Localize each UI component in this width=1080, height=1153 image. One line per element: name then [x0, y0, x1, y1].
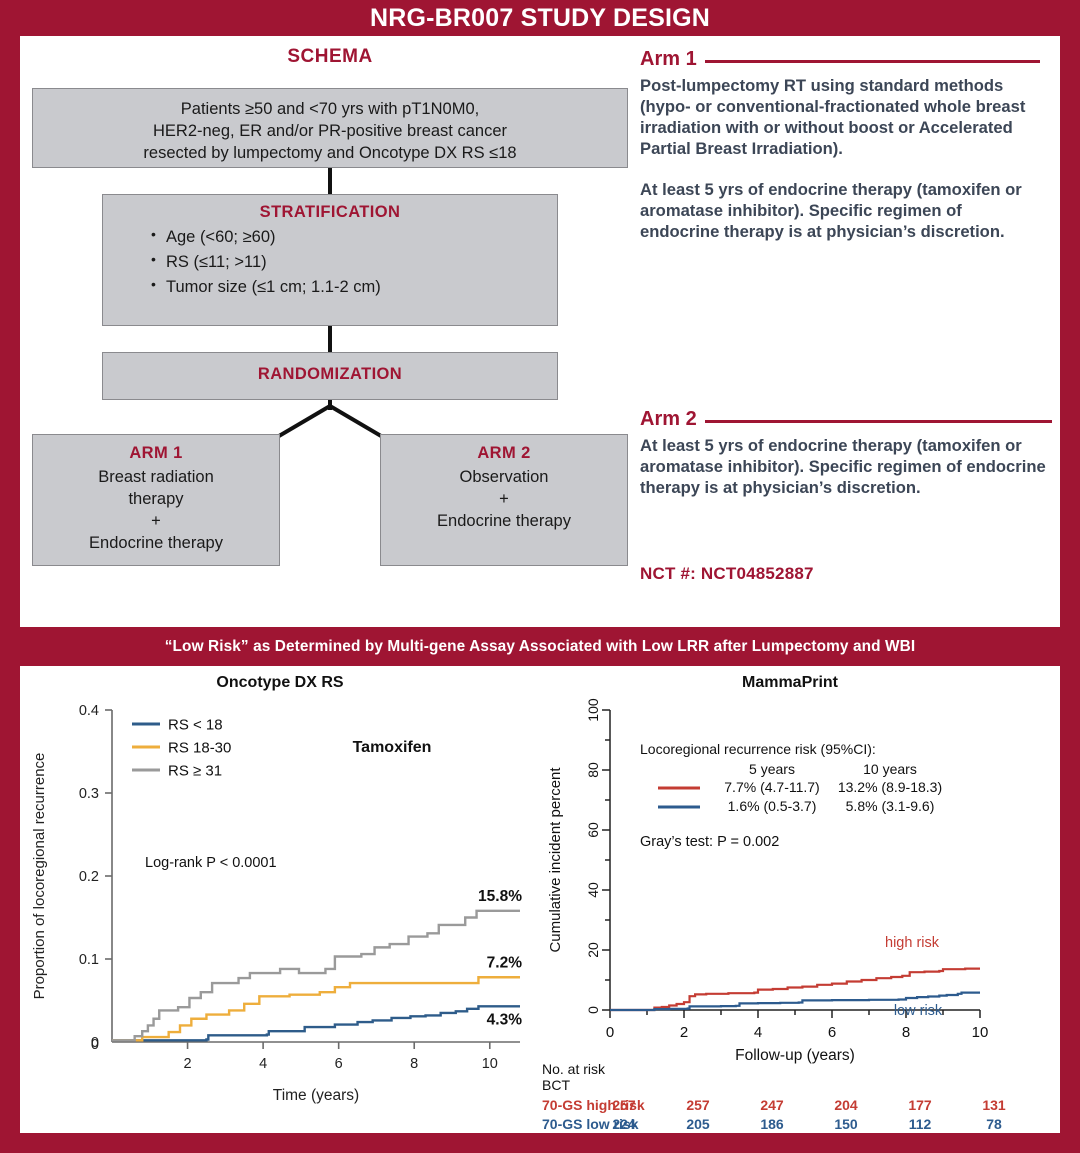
mammaprint-y-tick-label: 60	[585, 822, 601, 838]
schema-arm1-line-2: therapy	[43, 488, 269, 510]
mammaprint-risk-5y-1: 7.7% (4.7-11.7)	[724, 779, 819, 795]
oncotype-chart: 00.10.20.30.4Proportion of locoregional …	[20, 692, 540, 1132]
mammaprint-x-tick-label: 0	[606, 1024, 614, 1041]
oncotype-end-label-3: 4.3%	[487, 1011, 523, 1028]
oncotype-curve-3	[112, 911, 520, 1040]
oncotype-y-tick-label: 0.1	[79, 952, 99, 968]
arm2-paragraph-1: At least 5 yrs of endocrine therapy (tam…	[640, 436, 1052, 499]
mammaprint-risk-10y-2: 5.8% (3.1-9.6)	[846, 798, 935, 814]
oncotype-legend-label-2: RS 18-30	[168, 740, 231, 757]
arms-description-column: Arm 1 Post-lumpectomy RT using standard …	[640, 36, 1060, 627]
mammaprint-chart-title: MammaPrint	[540, 674, 1040, 692]
mammaprint-y-tick-label: 20	[585, 942, 601, 958]
oncotype-end-label-2: 7.2%	[487, 954, 523, 971]
mammaprint-risk-row-value-2-1: 224	[612, 1116, 636, 1132]
mammaprint-low-risk-annotation: low risk	[894, 1003, 943, 1019]
eligibility-line-3: resected by lumpectomy and Oncotype DX R…	[43, 142, 617, 164]
oncotype-x-axis-label: Time (years)	[273, 1087, 359, 1104]
mammaprint-y-tick-label: 100	[585, 698, 601, 722]
mammaprint-x-axis-label: Follow-up (years)	[735, 1047, 855, 1064]
page-title: NRG-BR007 STUDY DESIGN	[370, 4, 710, 33]
mammaprint-risk-row-value-1-3: 247	[760, 1097, 784, 1113]
mammaprint-risk-row-value-2-5: 112	[909, 1116, 932, 1132]
oncotype-y-axis-label: Proportion of locoregional recurrence	[31, 753, 48, 1000]
oncotype-x-tick-label: 8	[410, 1056, 418, 1072]
arm2-section: Arm 2 At least 5 yrs of endocrine therap…	[640, 408, 1052, 499]
mammaprint-risk-row-value-2-6: 78	[986, 1116, 1002, 1132]
schema-column: SCHEMA Patients ≥50 and <70 yrs with pT1…	[20, 36, 640, 627]
mammaprint-risk-row-value-2-4: 150	[834, 1116, 858, 1132]
mammaprint-no-at-risk-title: No. at risk	[542, 1061, 606, 1077]
mammaprint-grays-test: Gray’s test: P = 0.002	[640, 834, 779, 850]
connector-stratification-randomization	[328, 326, 332, 352]
oncotype-x-tick-label: 2	[184, 1056, 192, 1072]
mammaprint-y-tick-label: 40	[585, 882, 601, 898]
schema-heading: SCHEMA	[20, 46, 640, 68]
eligibility-box: Patients ≥50 and <70 yrs with pT1N0M0, H…	[32, 88, 628, 168]
schema-arm2-line-1: Observation	[391, 466, 617, 488]
mammaprint-risk-row-value-1-5: 177	[908, 1097, 932, 1113]
mammaprint-x-tick-label: 10	[972, 1024, 989, 1041]
mammaprint-y-tick-label: 0	[585, 1006, 601, 1014]
oncotype-curve-2	[112, 977, 520, 1040]
schema-arm2-title: ARM 2	[391, 444, 617, 463]
poster-root: NRG-BR007 STUDY DESIGN SCHEMA Patients ≥…	[0, 0, 1080, 1153]
oncotype-y-tick-label: 0.4	[79, 703, 99, 719]
mammaprint-risk-row-value-1-2: 257	[686, 1097, 710, 1113]
mammaprint-risk-row-value-2-2: 205	[686, 1116, 710, 1132]
mammaprint-risk-caption: Locoregional recurrence risk (95%CI):	[640, 741, 876, 757]
mammaprint-y-tick-label: 80	[585, 762, 601, 778]
eligibility-line-1: Patients ≥50 and <70 yrs with pT1N0M0,	[43, 98, 617, 120]
schema-arm1-title: ARM 1	[43, 444, 269, 463]
oncotype-chart-title: Oncotype DX RS	[20, 674, 540, 692]
mammaprint-risk-row-value-2-3: 186	[760, 1116, 784, 1132]
randomization-box: RANDOMIZATION	[102, 352, 558, 400]
mammaprint-x-tick-label: 8	[902, 1024, 910, 1041]
oncotype-legend-label-3: RS ≥ 31	[168, 763, 222, 780]
arm1-label: Arm 1	[640, 48, 697, 71]
study-design-panel: SCHEMA Patients ≥50 and <70 yrs with pT1…	[20, 36, 1060, 627]
arm1-section: Arm 1 Post-lumpectomy RT using standard …	[640, 48, 1040, 243]
mammaprint-risk-header-5y: 5 years	[749, 761, 795, 777]
stratification-item-rs: RS (≤11; >11)	[151, 250, 547, 275]
eligibility-line-2: HER2-neg, ER and/or PR-positive breast c…	[43, 120, 617, 142]
oncotype-y-tick-label: 0.3	[79, 786, 99, 802]
oncotype-legend-label-1: RS < 18	[168, 717, 223, 734]
mammaprint-high-risk-annotation: high risk	[885, 935, 940, 951]
mammaprint-risk-5y-2: 1.6% (0.5-3.7)	[728, 798, 817, 814]
mammaprint-risk-row-value-1-4: 204	[834, 1097, 858, 1113]
stratification-box: STRATIFICATION Age (<60; ≥60) RS (≤11; >…	[102, 194, 558, 326]
oncotype-y-tick-label: 0.2	[79, 869, 99, 885]
oncotype-x-tick-label: 10	[482, 1056, 498, 1072]
schema-arm1-line-4: Endocrine therapy	[43, 532, 269, 554]
arm1-rule	[705, 60, 1040, 63]
schema-arm1-line-1: Breast radiation	[43, 466, 269, 488]
low-risk-banner-text: “Low Risk” as Determined by Multi-gene A…	[165, 638, 915, 656]
low-risk-banner: “Low Risk” as Determined by Multi-gene A…	[0, 627, 1080, 666]
oncotype-tamoxifen-annotation: Tamoxifen	[353, 739, 432, 756]
schema-arm1-box: ARM 1 Breast radiation therapy + Endocri…	[32, 434, 280, 566]
schema-arm2-line-2: +	[391, 488, 617, 510]
oncotype-x-tick-label: 6	[335, 1056, 343, 1072]
mammaprint-y-axis-label: Cumulative incident percent	[547, 767, 564, 953]
stratification-item-tumor-size: Tumor size (≤1 cm; 1.1-2 cm)	[151, 275, 547, 300]
mammaprint-x-tick-label: 6	[828, 1024, 836, 1041]
arm2-heading: Arm 2	[640, 408, 1052, 431]
arm1-paragraph-1: Post-lumpectomy RT using standard method…	[640, 76, 1040, 160]
randomization-title: RANDOMIZATION	[113, 365, 547, 384]
mammaprint-no-at-risk-subtitle: BCT	[542, 1077, 570, 1093]
mammaprint-x-tick-label: 4	[754, 1024, 762, 1041]
mammaprint-chart: 020406080100Cumulative incident percent0…	[540, 692, 1050, 1132]
poster-title-banner: NRG-BR007 STUDY DESIGN	[0, 0, 1080, 36]
mammaprint-risk-row-value-1-6: 131	[982, 1097, 1006, 1113]
oncotype-logrank-text: Log-rank P < 0.0001	[145, 855, 277, 871]
arm2-rule	[705, 420, 1052, 423]
mammaprint-risk-header-10y: 10 years	[863, 761, 917, 777]
schema-arm2-line-3: Endocrine therapy	[391, 510, 617, 532]
schema-arm1-line-3: +	[43, 510, 269, 532]
charts-panel: Oncotype DX RS 00.10.20.30.4Proportion o…	[20, 666, 1060, 1133]
connector-eligibility-stratification	[328, 168, 332, 194]
arm1-heading: Arm 1	[640, 48, 1040, 71]
mammaprint-x-tick-label: 2	[680, 1024, 688, 1041]
oncotype-x-tick-label: 4	[259, 1056, 267, 1072]
stratification-list: Age (<60; ≥60) RS (≤11; >11) Tumor size …	[113, 225, 547, 300]
nct-number: NCT #: NCT04852887	[640, 564, 814, 584]
oncotype-end-label-1: 15.8%	[478, 888, 522, 905]
mammaprint-risk-row-value-1-1: 257	[612, 1097, 636, 1113]
mammaprint-risk-10y-1: 13.2% (8.9-18.3)	[838, 779, 942, 795]
arm1-paragraph-2: At least 5 yrs of endocrine therapy (tam…	[640, 180, 1040, 243]
arm2-label: Arm 2	[640, 408, 697, 431]
schema-arm2-box: ARM 2 Observation + Endocrine therapy	[380, 434, 628, 566]
oncotype-origin-label: 0	[91, 1037, 99, 1053]
stratification-title: STRATIFICATION	[113, 203, 547, 222]
stratification-item-age: Age (<60; ≥60)	[151, 225, 547, 250]
